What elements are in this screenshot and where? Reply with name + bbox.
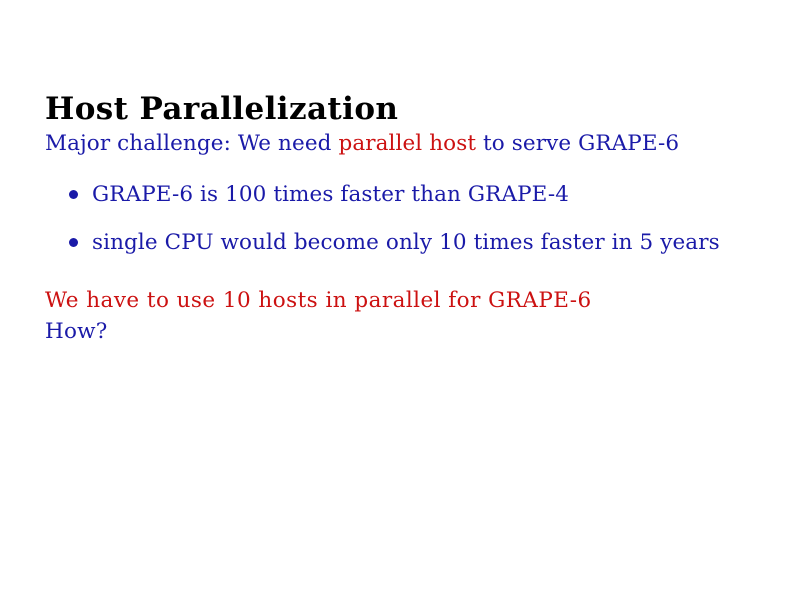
slide-body: Major challenge: We need parallel host t…	[45, 128, 780, 347]
page-title: Host Parallelization	[45, 91, 398, 127]
presentation-slide: Host Parallelization Major challenge: We…	[0, 0, 800, 600]
intro-text-before: Major challenge: We need	[45, 131, 338, 156]
closing-question: How?	[45, 316, 780, 347]
closing-block: We have to use 10 hosts in parallel for …	[45, 285, 780, 347]
list-item-label: single CPU would become only 10 times fa…	[92, 230, 720, 255]
intro-paragraph: Major challenge: We need parallel host t…	[45, 128, 780, 159]
list-item: single CPU would become only 10 times fa…	[45, 227, 780, 258]
bullet-dot-icon	[69, 238, 78, 247]
intro-text-after: to serve GRAPE-6	[476, 131, 679, 156]
bullet-list: GRAPE-6 is 100 times faster than GRAPE-4…	[45, 179, 780, 258]
list-item: GRAPE-6 is 100 times faster than GRAPE-4	[45, 179, 780, 210]
bullet-dot-icon	[69, 190, 78, 199]
intro-highlight-parallel-host: parallel host	[338, 131, 476, 156]
closing-statement: We have to use 10 hosts in parallel for …	[45, 285, 780, 316]
list-item-label: GRAPE-6 is 100 times faster than GRAPE-4	[92, 182, 569, 207]
